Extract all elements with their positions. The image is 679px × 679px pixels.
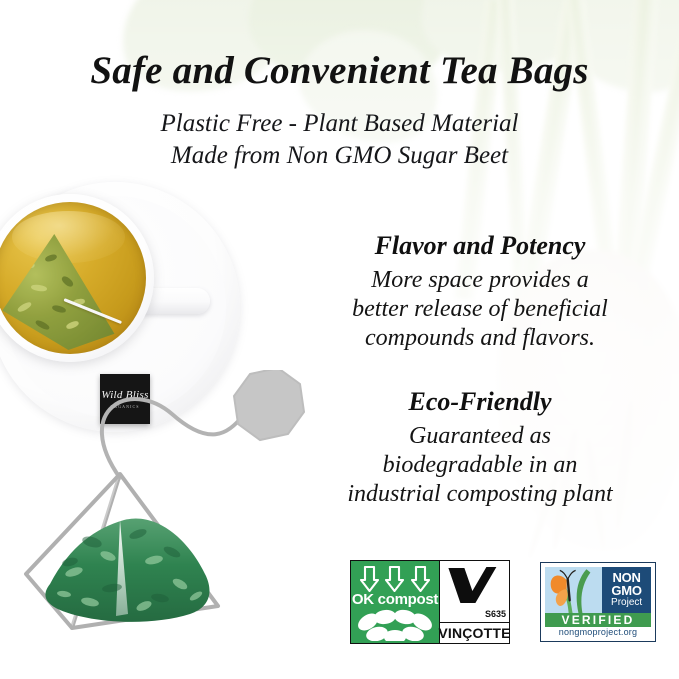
- certification-badges: OK compost: [350, 556, 670, 648]
- feature-body-line: More space provides a: [281, 266, 679, 295]
- subtitle-line-2: Made from Non GMO Sugar Beet: [0, 142, 679, 170]
- non-gmo-line-gmo: GMO: [611, 585, 641, 597]
- feature-title-eco: Eco-Friendly: [281, 387, 679, 417]
- feature-body-line: compounds and flavors.: [281, 324, 679, 353]
- ok-compost-code: S635: [485, 609, 506, 619]
- ok-compost-white-panel: S635 VINÇOTTE: [439, 561, 509, 643]
- feature-body-line: biodegradable in an: [281, 451, 679, 480]
- page-title: Safe and Convenient Tea Bags: [0, 48, 679, 93]
- non-gmo-blue-panel: NON GMO Project: [602, 567, 651, 613]
- ok-compost-flower-icon: [355, 609, 435, 641]
- tea-surface-sheen: [12, 211, 124, 263]
- feature-body-line: Guaranteed as: [281, 422, 679, 451]
- down-arrow-icon: [411, 566, 430, 592]
- non-gmo-sky-panel: [545, 567, 602, 613]
- down-arrow-icon: [360, 566, 379, 592]
- feature-body-line: better release of beneficial: [281, 295, 679, 324]
- vincotte-check-icon: [446, 565, 498, 605]
- product-infographic: Safe and Convenient Tea Bags Plastic Fre…: [0, 0, 679, 679]
- non-gmo-verified-band: VERIFIED: [545, 613, 651, 627]
- vincotte-label: VINÇOTTE: [440, 622, 509, 643]
- ok-compost-label: OK compost: [351, 591, 439, 608]
- feature-block-flavor: Flavor and Potency More space provides a…: [281, 231, 679, 353]
- teabag-string: [102, 399, 244, 478]
- feature-body-line: industrial composting plant: [281, 480, 679, 509]
- feature-body-flavor: More space provides a better release of …: [281, 266, 679, 353]
- down-arrow-icon: [385, 566, 404, 592]
- subtitle-line-1: Plastic Free - Plant Based Material: [0, 110, 679, 138]
- feature-body-eco: Guaranteed as biodegradable in an indust…: [281, 422, 679, 509]
- non-gmo-project-badge: NON GMO Project VERIFIED nongmoproject.o…: [540, 562, 656, 642]
- non-gmo-url: nongmoproject.org: [545, 627, 651, 637]
- checkmark-icon: [446, 565, 498, 610]
- ok-compost-arrows: [357, 566, 433, 592]
- ok-compost-badge: OK compost: [350, 560, 510, 644]
- non-gmo-line-project: Project: [611, 598, 642, 608]
- ok-compost-green-panel: OK compost: [351, 561, 439, 643]
- butterfly-icon: [551, 570, 576, 606]
- feature-title-flavor: Flavor and Potency: [281, 231, 679, 261]
- flower-petals-icon: [355, 609, 435, 641]
- feature-block-eco: Eco-Friendly Guaranteed as biodegradable…: [281, 387, 679, 509]
- butterfly-on-grass-icon: [545, 567, 602, 613]
- brewed-tea-liquid: [0, 202, 146, 354]
